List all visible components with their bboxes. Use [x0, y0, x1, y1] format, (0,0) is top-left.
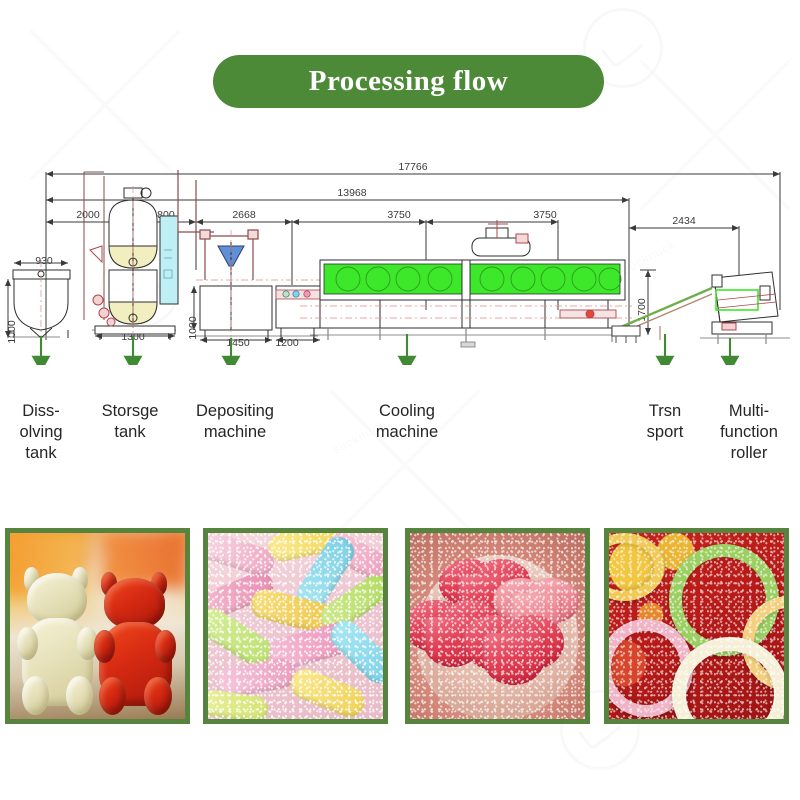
gummy-bears-image [10, 533, 185, 719]
mould-conveyor-drawing [276, 290, 320, 299]
dim-2668: 2668 [232, 209, 256, 221]
dim-1200: 1200 [275, 337, 299, 349]
page-title-pill: Processing flow [213, 55, 604, 108]
label-dissolving-tank: Diss- olving tank [2, 401, 80, 464]
product-photo-sugar-hearts[interactable] [405, 528, 590, 724]
dim-3750-b: 3750 [533, 209, 557, 221]
sugar-hearts-image [410, 533, 585, 719]
label-depositing-machine: Depositing machine [172, 401, 298, 443]
sour-worms-image [208, 533, 383, 719]
label-line: Storsge [82, 401, 178, 422]
dim-13968: 13968 [337, 187, 366, 199]
dim-930: 930 [35, 255, 53, 267]
label-line: tank [2, 443, 80, 464]
label-storage-tank: Storsge tank [82, 401, 178, 443]
label-line: tank [82, 422, 178, 443]
label-line: Cooling [345, 401, 469, 422]
label-line: Multi- [700, 401, 798, 422]
product-photo-sour-worms[interactable] [203, 528, 388, 724]
page-root: sucknuck sucknuck Processing flow [0, 0, 800, 800]
layout-drawing-svg: 17766 13968 2000 1800 2668 3750 3750 243… [0, 150, 800, 365]
machine-label-row: Diss- olving tank Storsge tank Depositin… [0, 393, 800, 483]
dim-2000: 2000 [76, 209, 100, 221]
gummy-rings-image [609, 533, 784, 719]
dim-17766: 17766 [398, 161, 427, 173]
label-transport: Trsn sport [630, 401, 700, 443]
multifunction-roller-drawing [712, 272, 778, 344]
transport-conveyor-drawing [612, 288, 712, 343]
dim-2434: 2434 [672, 215, 696, 227]
label-line: function [700, 422, 798, 443]
dim-3750-a: 3750 [387, 209, 411, 221]
label-line: Trsn [630, 401, 700, 422]
label-line: Diss- [2, 401, 80, 422]
label-line: roller [700, 443, 798, 464]
cooling-exit-roller [560, 310, 616, 318]
label-line: Depositing [172, 401, 298, 422]
label-line: machine [172, 422, 298, 443]
cooling-machine-drawing [320, 260, 625, 347]
page-title: Processing flow [309, 65, 508, 98]
process-flow-diagram: 17766 13968 2000 1800 2668 3750 3750 243… [0, 150, 800, 365]
product-photo-gummy-rings[interactable] [604, 528, 789, 724]
product-photo-strip [0, 528, 800, 728]
dim-1450: 1450 [226, 337, 250, 349]
product-photo-gummy-bears[interactable] [5, 528, 190, 724]
label-multifunction-roller: Multi- function roller [700, 401, 798, 464]
label-line: machine [345, 422, 469, 443]
label-line: olving [2, 422, 80, 443]
label-line: sport [630, 422, 700, 443]
label-cooling-machine: Cooling machine [345, 401, 469, 443]
control-panel-drawing [160, 216, 178, 304]
